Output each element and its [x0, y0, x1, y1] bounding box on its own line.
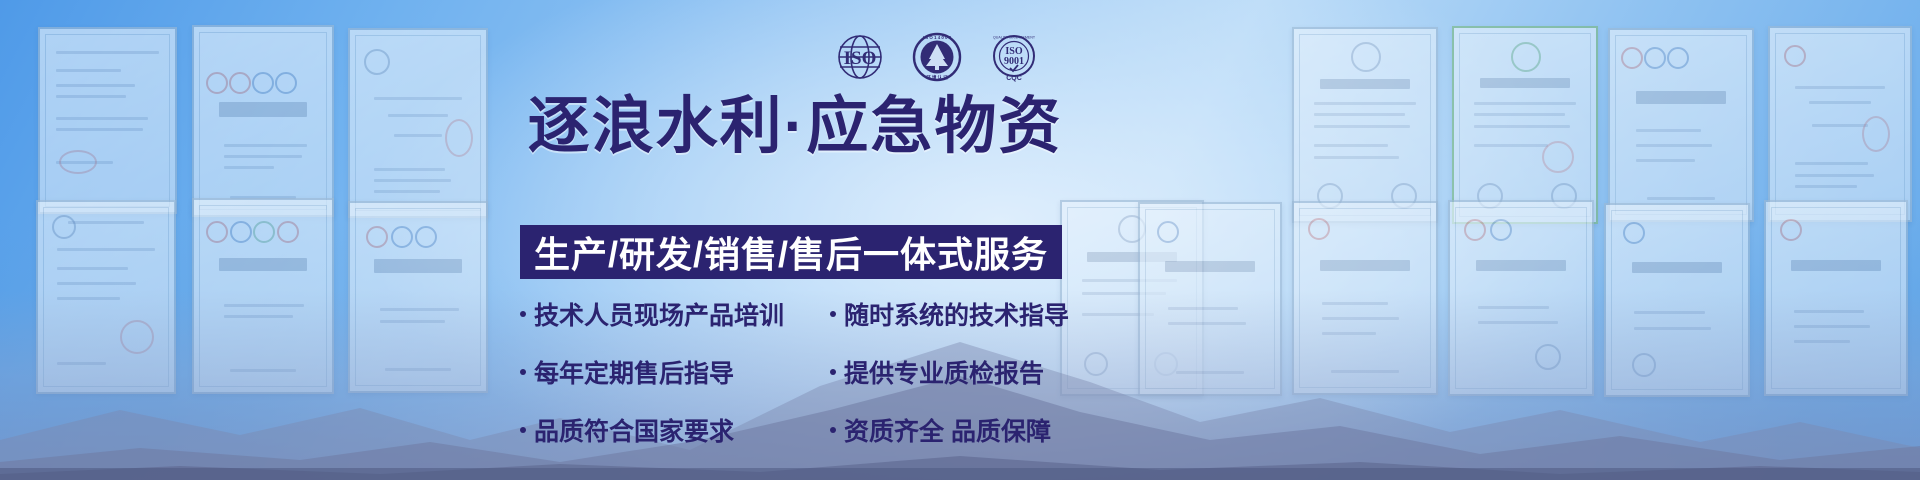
svg-text:I S O 1 4 0 0 0: I S O 1 4 0 0 0	[923, 35, 952, 40]
bullet-dot-icon	[830, 369, 836, 375]
feature-list: 技术人员现场产品培训 随时系统的技术指导 每年定期售后指导 提供专业质检报告	[520, 296, 1080, 448]
feature-item: 资质齐全 品质保障	[830, 412, 1080, 448]
svg-text:ISO: ISO	[844, 48, 877, 69]
bullet-dot-icon	[520, 369, 526, 375]
iso14000-badge-icon: I S O 1 4 0 0 0 环 境 认 证	[911, 32, 963, 82]
feature-item: 提供专业质检报告	[830, 354, 1080, 390]
iso-globe-badge-icon: ISO	[835, 33, 885, 81]
bullet-dot-icon	[830, 311, 836, 317]
svg-text:环 境 认 证: 环 境 认 证	[926, 74, 948, 81]
feature-row: 品质符合国家要求 资质齐全 品质保障	[520, 412, 1080, 448]
iso9001-cqc-badge-icon: ISO 9001 CQC QUALITY MANAGEMENT	[989, 32, 1039, 82]
subtitle-bar: 生产/研发/销售/售后一体式服务	[520, 225, 1062, 279]
feature-label: 随时系统的技术指导	[844, 296, 1069, 332]
svg-text:9001: 9001	[1004, 56, 1024, 67]
bullet-dot-icon	[520, 311, 526, 317]
banner-content: ISO I S O 1 4 0 0 0 环 境 认 证	[0, 0, 1920, 480]
svg-text:QUALITY MANAGEMENT: QUALITY MANAGEMENT	[993, 36, 1036, 40]
bullet-dot-icon	[830, 427, 836, 433]
page-title: 逐浪水利·应急物资	[505, 96, 1085, 158]
feature-row: 每年定期售后指导 提供专业质检报告	[520, 354, 1080, 390]
feature-item: 随时系统的技术指导	[830, 296, 1080, 332]
feature-item: 品质符合国家要求	[520, 412, 810, 448]
svg-text:CQC: CQC	[1006, 75, 1022, 82]
feature-label: 提供专业质检报告	[844, 354, 1044, 390]
bullet-dot-icon	[520, 427, 526, 433]
feature-label: 每年定期售后指导	[534, 354, 734, 390]
feature-label: 技术人员现场产品培训	[534, 296, 784, 332]
feature-item: 每年定期售后指导	[520, 354, 810, 390]
feature-item: 技术人员现场产品培训	[520, 296, 810, 332]
promo-banner: ISO I S O 1 4 0 0 0 环 境 认 证	[0, 0, 1920, 480]
certification-logos: ISO I S O 1 4 0 0 0 环 境 认 证	[835, 32, 1039, 82]
feature-row: 技术人员现场产品培训 随时系统的技术指导	[520, 296, 1080, 332]
subtitle-text: 生产/研发/销售/售后一体式服务	[534, 226, 1048, 278]
feature-label: 资质齐全 品质保障	[844, 412, 1051, 448]
feature-label: 品质符合国家要求	[534, 412, 734, 448]
